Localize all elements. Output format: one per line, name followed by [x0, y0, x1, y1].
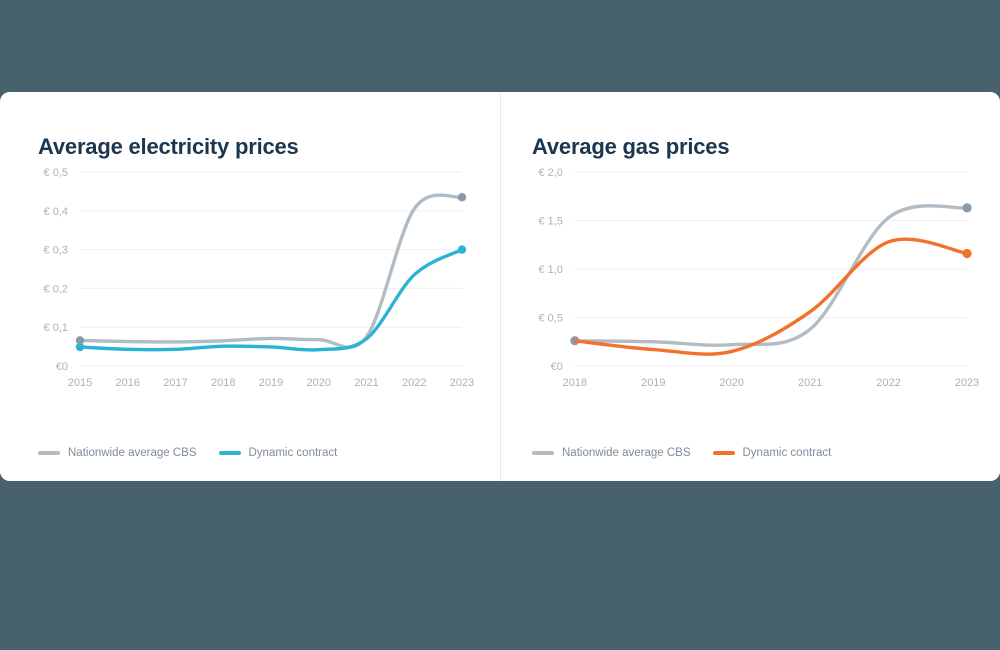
legend-item-dynamic[interactable]: Dynamic contract: [713, 447, 832, 459]
y-axis-tick-label: € 0,5: [44, 167, 68, 179]
legend-label-dynamic: Dynamic contract: [743, 447, 832, 459]
x-axis-tick-label: 2021: [798, 377, 822, 389]
chart-canvas-electricity: € 0,5€ 0,4€ 0,3€ 0,2€ 0,1€02015201620172…: [0, 160, 500, 410]
series-end-marker: [458, 193, 466, 201]
chart-card-gas: Average gas prices € 2,0€ 1,5€ 1,0€ 0,5€…: [500, 92, 1000, 481]
x-axis-tick-label: 2019: [259, 377, 283, 389]
x-axis-tick-label: 2018: [563, 377, 587, 389]
chart-canvas-gas: € 2,0€ 1,5€ 1,0€ 0,5€0201820192020202120…: [501, 160, 1000, 410]
x-axis-tick-label: 2017: [163, 377, 187, 389]
y-axis-tick-label: € 0,4: [44, 206, 68, 218]
legend-item-cbs[interactable]: Nationwide average CBS: [532, 447, 691, 459]
charts-panel: Average electricity prices € 0,5€ 0,4€ 0…: [0, 92, 1000, 481]
y-axis-tick-label: € 0,2: [44, 283, 68, 295]
x-axis-tick-label: 2023: [450, 377, 474, 389]
line-chart-electricity: € 0,5€ 0,4€ 0,3€ 0,2€ 0,1€02015201620172…: [0, 160, 500, 410]
series-line: [575, 239, 967, 354]
x-axis-tick-label: 2019: [641, 377, 665, 389]
x-axis-tick-label: 2023: [955, 377, 979, 389]
x-axis-tick-label: 2016: [116, 377, 140, 389]
page-title-gas: Average gas prices: [532, 134, 729, 160]
series-line: [575, 206, 967, 345]
x-axis-tick-label: 2022: [402, 377, 426, 389]
series-end-marker: [962, 249, 971, 258]
x-axis-tick-label: 2015: [68, 377, 92, 389]
y-axis-tick-label: € 0,1: [44, 322, 68, 334]
screenshot-root: Average electricity prices € 0,5€ 0,4€ 0…: [0, 0, 1000, 650]
x-axis-tick-label: 2020: [720, 377, 744, 389]
chart-legend-gas: Nationwide average CBS Dynamic contract: [532, 447, 831, 459]
legend-label-cbs: Nationwide average CBS: [562, 447, 691, 459]
y-axis-tick-label: € 1,5: [538, 215, 562, 227]
legend-label-dynamic: Dynamic contract: [249, 447, 338, 459]
x-axis-tick-label: 2022: [876, 377, 900, 389]
legend-swatch-dynamic-icon: [713, 451, 735, 455]
series-end-marker: [458, 245, 466, 253]
y-axis-tick-label: € 1,0: [538, 264, 562, 276]
x-axis-tick-label: 2018: [211, 377, 235, 389]
y-axis-tick-label: € 2,0: [538, 167, 562, 179]
legend-swatch-dynamic-icon: [219, 451, 241, 455]
chart-card-electricity: Average electricity prices € 0,5€ 0,4€ 0…: [0, 92, 500, 481]
y-axis-tick-label: €0: [551, 361, 563, 373]
series-end-marker: [962, 203, 971, 212]
legend-label-cbs: Nationwide average CBS: [68, 447, 197, 459]
legend-item-cbs[interactable]: Nationwide average CBS: [38, 447, 197, 459]
y-axis-tick-label: €0: [56, 361, 68, 373]
legend-swatch-cbs-icon: [38, 451, 60, 455]
legend-swatch-cbs-icon: [532, 451, 554, 455]
x-axis-tick-label: 2021: [354, 377, 378, 389]
page-title-electricity: Average electricity prices: [38, 134, 299, 160]
line-chart-gas: € 2,0€ 1,5€ 1,0€ 0,5€0201820192020202120…: [501, 160, 1000, 410]
y-axis-tick-label: € 0,5: [538, 312, 562, 324]
legend-item-dynamic[interactable]: Dynamic contract: [219, 447, 338, 459]
series-line: [80, 250, 462, 350]
y-axis-tick-label: € 0,3: [44, 245, 68, 257]
series-line: [80, 195, 462, 347]
series-start-marker: [76, 336, 84, 344]
x-axis-tick-label: 2020: [307, 377, 331, 389]
chart-legend-electricity: Nationwide average CBS Dynamic contract: [38, 447, 337, 459]
